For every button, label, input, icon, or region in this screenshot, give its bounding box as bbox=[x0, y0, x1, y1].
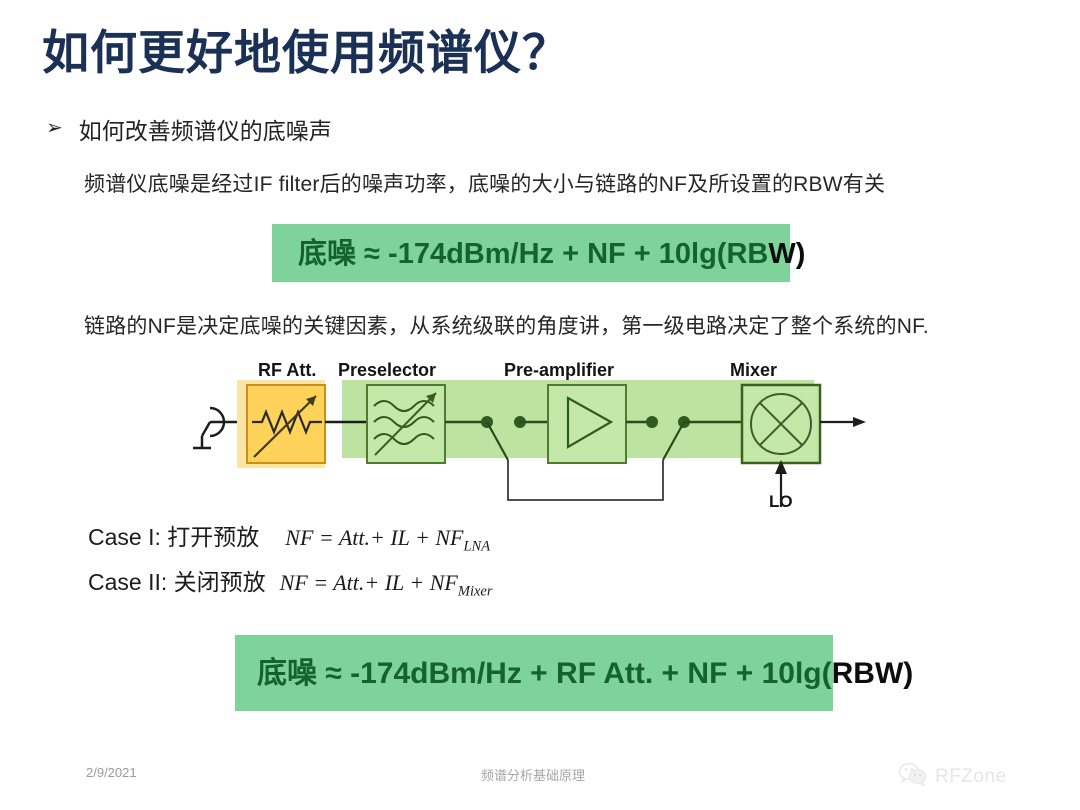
formula-text-inside-box-bottom: 底噪 ≈ -174dBm/Hz + RF Att. + NF + 10lg( bbox=[257, 657, 832, 690]
arrow-bullet-icon: ➢ bbox=[46, 118, 63, 138]
case-label-1: Case I: 打开预放 bbox=[88, 518, 259, 552]
case-label-2: Case II: 关闭预放 bbox=[88, 563, 266, 597]
bullet-label: 如何改善频谱仪的底噪声 bbox=[79, 112, 332, 146]
wechat-bubbles-icon bbox=[898, 762, 928, 791]
switch-node-b bbox=[646, 416, 658, 428]
case-row-preamp-off: Case II: 关闭预放 NF = Att.+ IL + NFMixer bbox=[88, 563, 493, 600]
case-equation-1-sub: LNA bbox=[463, 538, 490, 554]
preamplifier-block bbox=[548, 385, 626, 463]
case-row-preamp-on: Case I: 打开预放 NF = Att.+ IL + NFLNA bbox=[88, 518, 490, 555]
paragraph-noise-floor-definition: 频谱仪底噪是经过IF filter后的噪声功率，底噪的大小与链路的NF及所设置的… bbox=[84, 168, 885, 198]
case-equation-1: NF = Att.+ IL + NFLNA bbox=[285, 525, 490, 555]
formula-text-inside-box: 底噪 ≈ -174dBm/Hz + NF + 10lg(RB bbox=[298, 238, 768, 270]
slide-canvas: 如何更好地使用频谱仪？ ➢ 如何改善频谱仪的底噪声 频谱仪底噪是经过IF fil… bbox=[0, 0, 1080, 810]
page-title: 如何更好地使用频谱仪？ bbox=[42, 24, 570, 84]
footer-date: 2/9/2021 bbox=[86, 765, 137, 780]
case-equation-2-main: NF = Att.+ IL + NF bbox=[280, 570, 458, 595]
formula-box-basic: 底噪 ≈ -174dBm/Hz + NF + 10lg(RBW) bbox=[272, 224, 805, 269]
rf-attenuator-block bbox=[247, 385, 325, 463]
formula-text-overflow-bottom: RBW) bbox=[832, 657, 914, 690]
case-equation-1-main: NF = Att.+ IL + NF bbox=[285, 525, 463, 550]
mixer-block bbox=[742, 385, 820, 463]
preselector-block bbox=[367, 385, 445, 463]
footer-deck-name: 频谱分析基础原理 bbox=[481, 765, 585, 784]
case-equation-2: NF = Att.+ IL + NFMixer bbox=[280, 570, 493, 600]
watermark-label: RFZone bbox=[935, 766, 1007, 788]
paragraph-nf-cascade: 链路的NF是决定底噪的关键因素，从系统级联的角度讲，第一级电路决定了整个系统的N… bbox=[84, 310, 929, 340]
formula-text-with-att: 底噪 ≈ -174dBm/Hz + RF Att. + NF + 10lg(RB… bbox=[235, 635, 913, 689]
case-equation-2-sub: Mixer bbox=[458, 583, 493, 599]
formula-box-with-att: 底噪 ≈ -174dBm/Hz + RF Att. + NF + 10lg(RB… bbox=[235, 635, 913, 689]
input-connector-icon bbox=[193, 408, 237, 448]
formula-text-basic: 底噪 ≈ -174dBm/Hz + NF + 10lg(RBW) bbox=[272, 224, 805, 269]
rf-block-diagram bbox=[190, 352, 870, 532]
bullet-item: ➢ 如何改善频谱仪的底噪声 bbox=[46, 112, 332, 146]
watermark: RFZone bbox=[898, 762, 1007, 791]
if-output-arrowhead bbox=[853, 417, 866, 427]
formula-text-overflow: W) bbox=[768, 238, 805, 270]
bypass-path bbox=[508, 460, 663, 500]
